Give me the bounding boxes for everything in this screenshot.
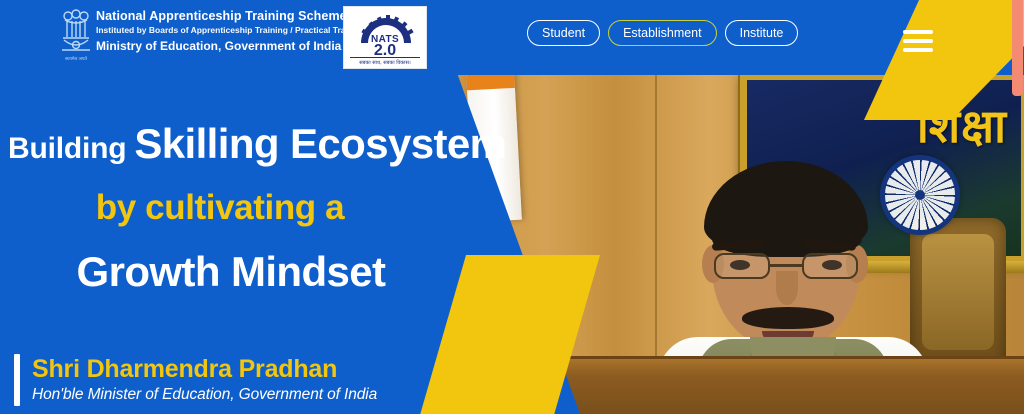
glasses-bridge xyxy=(770,264,802,267)
speaker-text: Shri Dharmendra Pradhan Hon'ble Minister… xyxy=(32,354,377,406)
nats-logo: NATIONAL APPRENTICESHIP TRAINING SCHEME … xyxy=(343,6,427,69)
headline-line-2: by cultivating a xyxy=(0,180,520,243)
ashoka-emblem-icon: सत्यमेव जयते xyxy=(58,8,94,64)
headline-line-2-text: by cultivating a xyxy=(96,188,344,227)
hamburger-bar xyxy=(903,30,933,34)
top-nav: Student Establishment Institute xyxy=(527,20,798,46)
nats-logo-tagline: सबका साथ, सबका विकास। xyxy=(344,60,426,66)
headline-emphasis: Skilling Ecosystem xyxy=(134,120,506,167)
nose xyxy=(776,271,798,305)
pink-accent-strip xyxy=(1012,0,1023,96)
speaker-name: Shri Dharmendra Pradhan xyxy=(32,354,377,384)
hamburger-menu-icon[interactable] xyxy=(903,30,933,51)
headline-line-3-text: Growth Mindset xyxy=(77,248,386,295)
headline-line-3: Growth Mindset xyxy=(0,243,520,311)
hamburger-bar xyxy=(903,48,933,52)
speaker-role: Hon'ble Minister of Education, Governmen… xyxy=(32,384,377,406)
flag-saffron-band xyxy=(466,75,515,90)
headline-line-1: BuildingSkilling Ecosystem xyxy=(0,118,520,180)
speaker-attribution: Shri Dharmendra Pradhan Hon'ble Minister… xyxy=(14,354,377,406)
nav-pill-institute[interactable]: Institute xyxy=(725,20,799,46)
lens-right xyxy=(802,253,858,279)
nav-pill-student[interactable]: Student xyxy=(527,20,600,46)
accent-bar xyxy=(14,354,20,406)
nav-pill-establishment[interactable]: Establishment xyxy=(608,20,717,46)
moustache xyxy=(742,307,834,329)
hero-banner: शिक्षा xyxy=(0,0,1024,414)
site-header: सत्यमेव जयते National Apprenticeship Tra… xyxy=(0,0,1024,75)
lens-left xyxy=(714,253,770,279)
ashoka-chakra-icon xyxy=(880,155,960,235)
hair xyxy=(704,161,868,253)
svg-text:सत्यमेव जयते: सत्यमेव जयते xyxy=(65,55,88,62)
hamburger-bar xyxy=(903,39,933,43)
headline-prefix: Building xyxy=(8,132,126,165)
nats-logo-divider xyxy=(350,57,420,58)
hero-headline: BuildingSkilling Ecosystem by cultivatin… xyxy=(0,118,520,311)
